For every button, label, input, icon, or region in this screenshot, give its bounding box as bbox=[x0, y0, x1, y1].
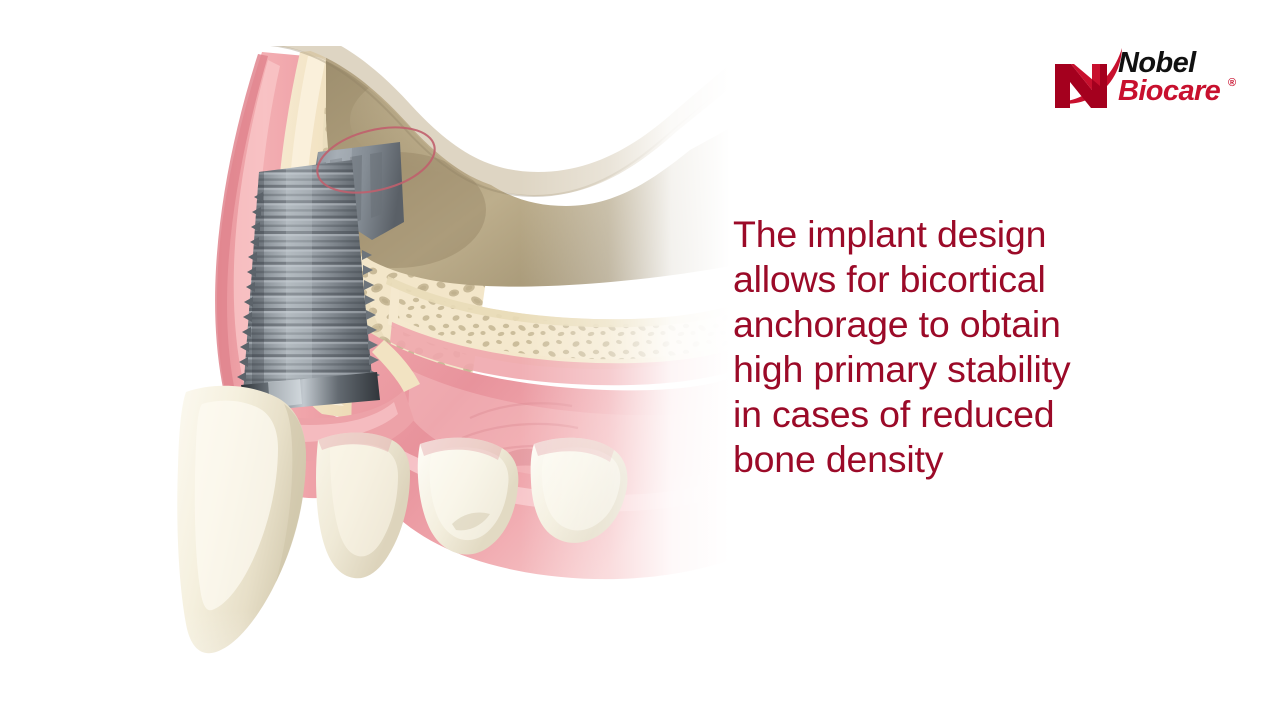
nobel-biocare-n-mark-icon bbox=[1052, 46, 1124, 112]
nobel-biocare-wordmark: Nobel Biocare ® bbox=[1118, 48, 1238, 110]
left-fade bbox=[0, 0, 176, 720]
caption-text-block: The implant design allows for bicortical… bbox=[733, 212, 1203, 482]
caption-line-6: bone density bbox=[733, 437, 1203, 482]
nobel-biocare-logo: Nobel Biocare ® bbox=[1052, 44, 1237, 116]
caption-line-1: The implant design bbox=[733, 212, 1203, 257]
logo-word-nobel: Nobel bbox=[1118, 48, 1196, 78]
caption-line-4: high primary stability bbox=[733, 347, 1203, 392]
dental-implant-illustration bbox=[0, 0, 730, 720]
illustration-group bbox=[0, 0, 730, 720]
caption-line-3: anchorage to obtain bbox=[733, 302, 1203, 347]
caption-line-2: allows for bicortical bbox=[733, 257, 1203, 302]
logo-word-biocare: Biocare bbox=[1118, 76, 1220, 106]
registered-trademark-icon: ® bbox=[1228, 78, 1236, 89]
caption-line-5: in cases of reduced bbox=[733, 392, 1203, 437]
slide-canvas: The implant design allows for bicortical… bbox=[0, 0, 1280, 720]
